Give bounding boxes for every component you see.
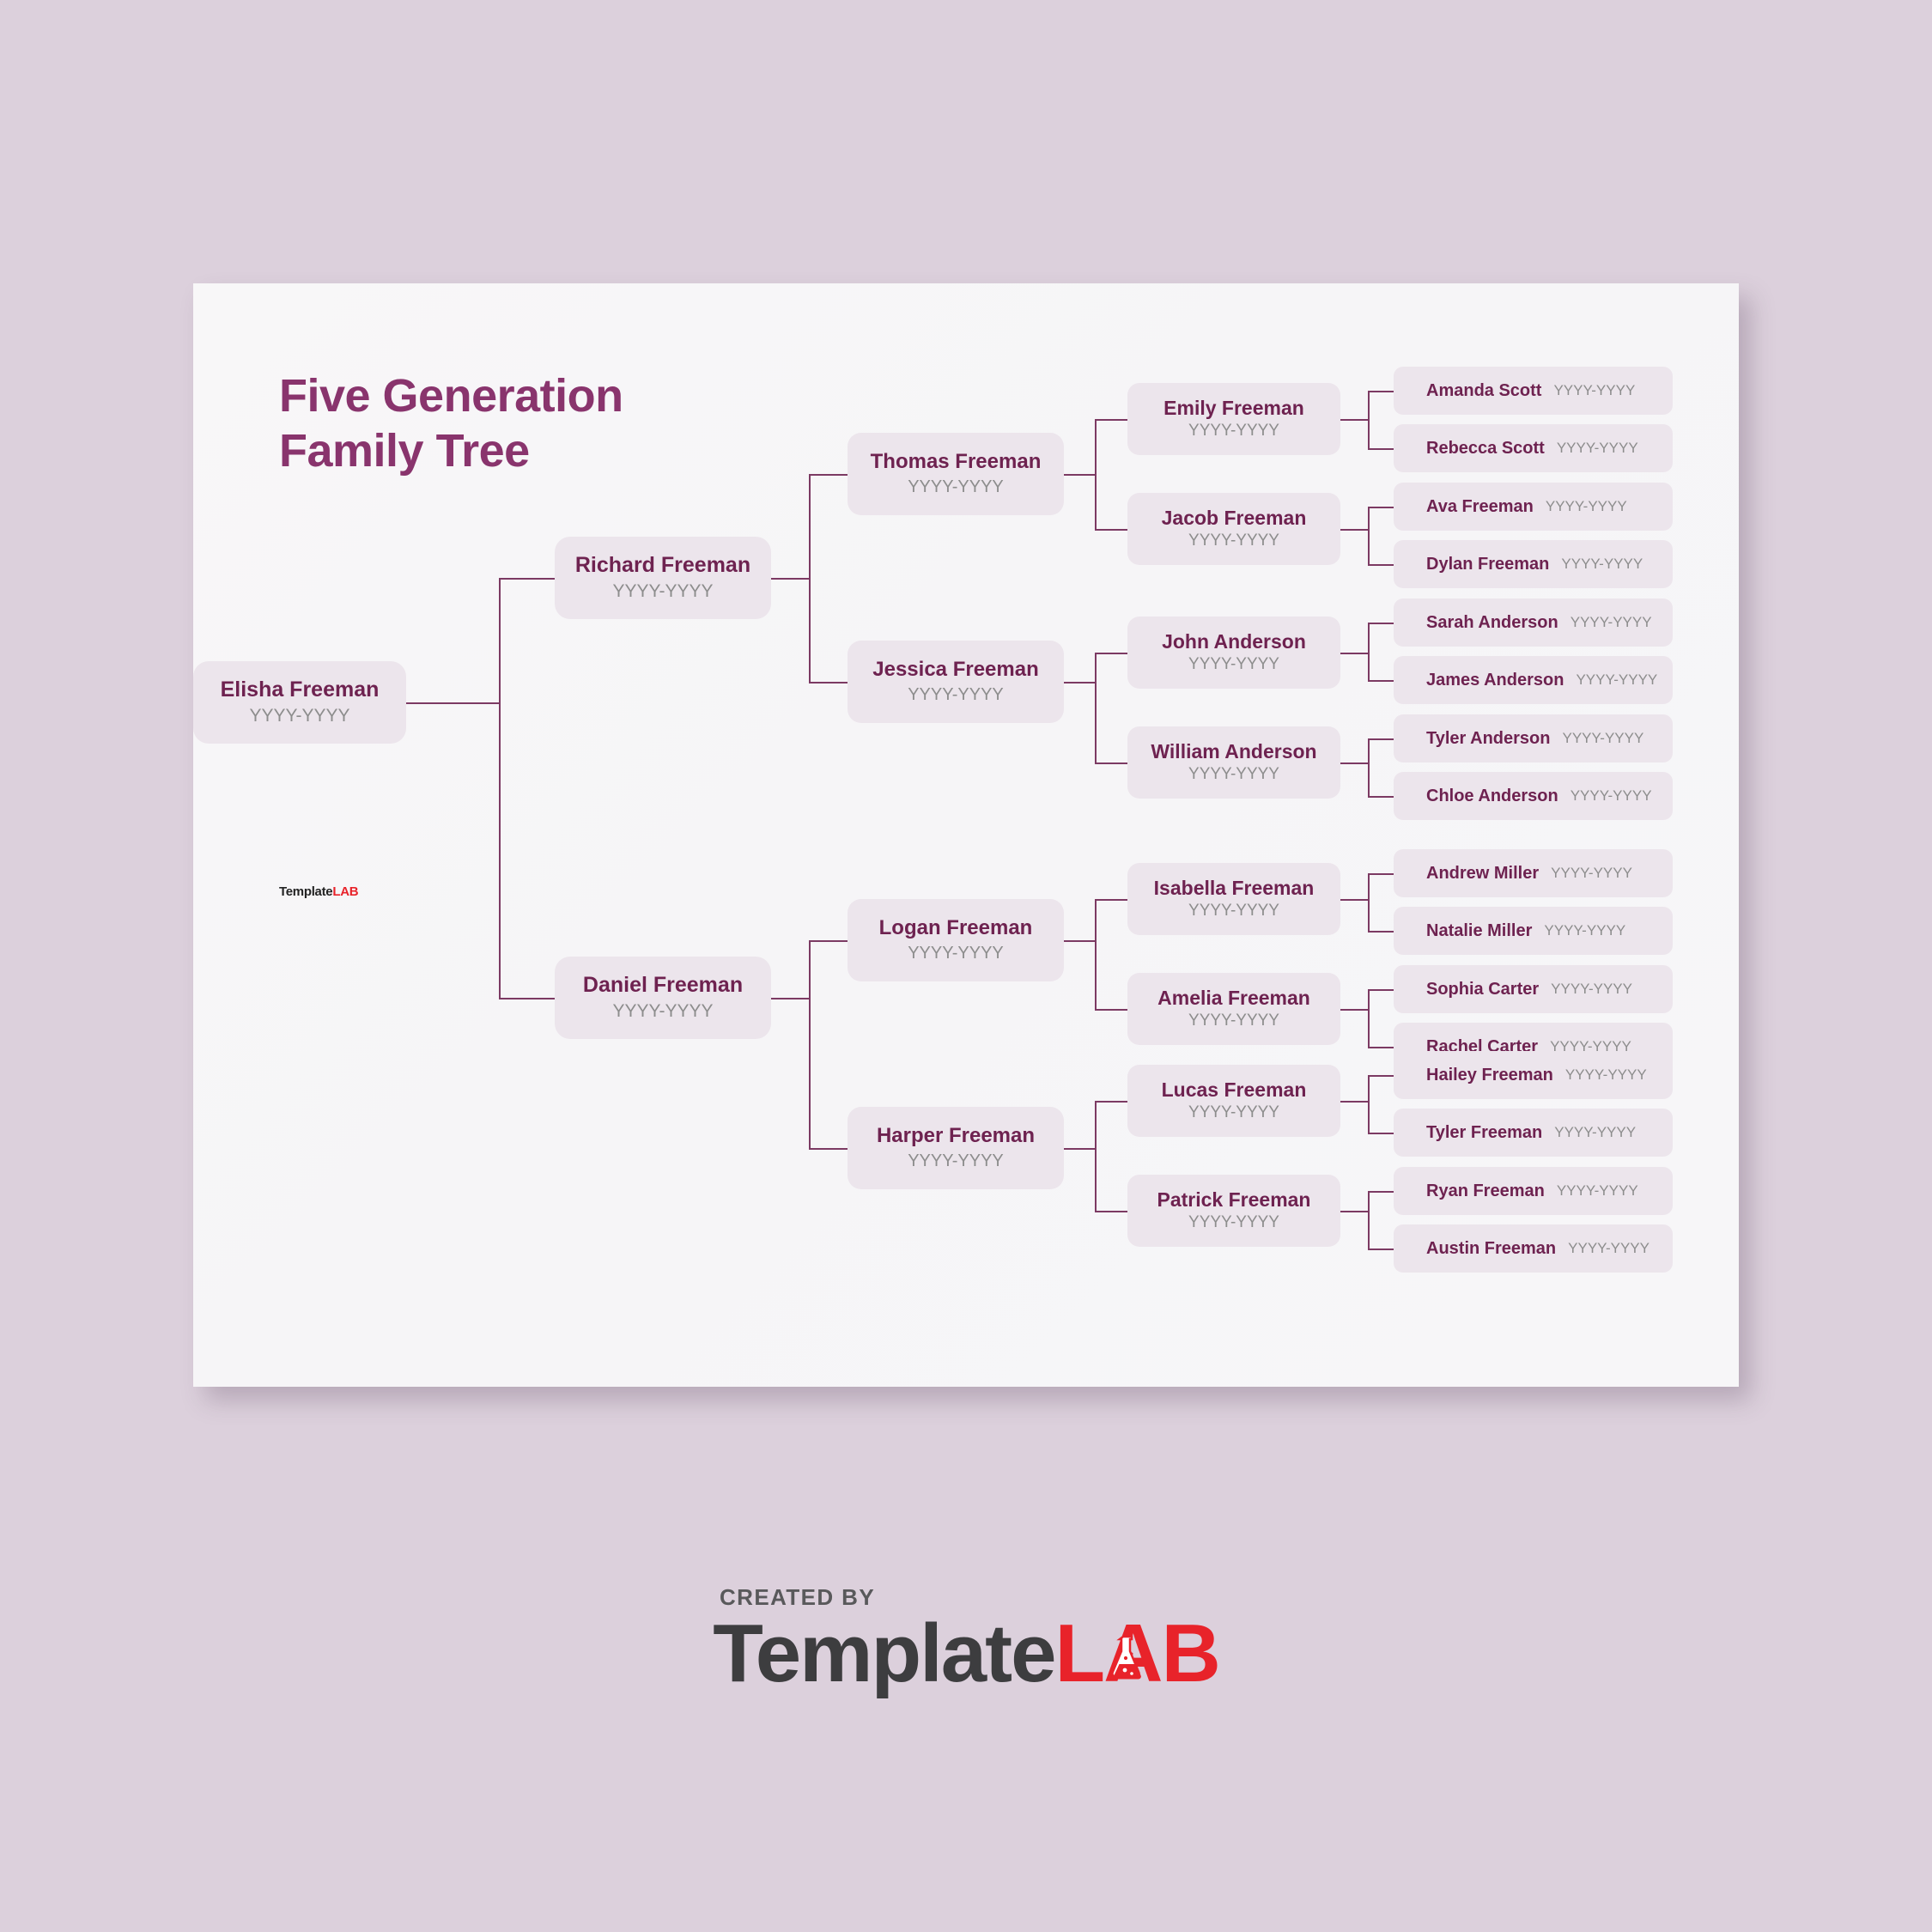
- connector-richard-spine: [809, 474, 811, 683]
- connector-to-ryan-freeman: [1368, 1191, 1394, 1193]
- node-years: YYYY-YYYY: [1565, 1066, 1647, 1084]
- tree-node-gen5-12[interactable]: Hailey Freeman YYYY-YYYY: [1394, 1051, 1673, 1099]
- connector-to-tyler-anderson: [1368, 738, 1394, 740]
- node-years: YYYY-YYYY: [249, 706, 349, 726]
- connector-jessica-spine: [1095, 653, 1097, 762]
- tree-node-gen3-2[interactable]: Logan Freeman YYYY-YYYY: [848, 899, 1064, 981]
- node-name: Thomas Freeman: [871, 451, 1042, 473]
- node-name: Amelia Freeman: [1157, 987, 1310, 1009]
- node-years: YYYY-YYYY: [1546, 498, 1627, 515]
- connector-to-harper: [809, 1148, 848, 1150]
- tree-node-gen4-6[interactable]: Lucas Freeman YYYY-YYYY: [1127, 1065, 1340, 1137]
- tree-node-gen5-7[interactable]: Chloe Anderson YYYY-YYYY: [1394, 772, 1673, 820]
- connector-to-william: [1095, 762, 1127, 764]
- tree-node-gen2-1[interactable]: Daniel Freeman YYYY-YYYY: [555, 957, 771, 1039]
- connector-to-rachel-carter: [1368, 1047, 1394, 1048]
- connector-to-thomas: [809, 474, 848, 476]
- tree-node-gen5-1[interactable]: Rebecca Scott YYYY-YYYY: [1394, 424, 1673, 472]
- connector-amelia-out: [1340, 1009, 1368, 1011]
- connector-john-spine: [1368, 623, 1370, 680]
- node-years: YYYY-YYYY: [1551, 981, 1632, 998]
- node-name: Emily Freeman: [1163, 398, 1304, 419]
- connector-to-sophia-carter: [1368, 989, 1394, 991]
- tree-node-gen4-5[interactable]: Amelia Freeman YYYY-YYYY: [1127, 973, 1340, 1045]
- node-years: YYYY-YYYY: [1188, 902, 1279, 920]
- node-name: Logan Freeman: [879, 917, 1033, 939]
- node-name: Tyler Anderson: [1426, 729, 1550, 748]
- connector-william-out: [1340, 762, 1368, 764]
- connector-isabella-spine: [1368, 873, 1370, 931]
- connector-to-amelia: [1095, 1009, 1127, 1011]
- connector-to-jacob: [1095, 529, 1127, 531]
- connector-amelia-spine: [1368, 989, 1370, 1047]
- connector-to-john: [1095, 653, 1127, 654]
- node-name: Richard Freeman: [575, 554, 750, 578]
- tree-node-gen5-10[interactable]: Sophia Carter YYYY-YYYY: [1394, 965, 1673, 1013]
- connector-to-lucas: [1095, 1101, 1127, 1103]
- node-name: Hailey Freeman: [1426, 1066, 1553, 1084]
- node-name: Natalie Miller: [1426, 921, 1532, 940]
- node-years: YYYY-YYYY: [612, 1001, 713, 1022]
- tree-node-gen5-8[interactable]: Andrew Miller YYYY-YYYY: [1394, 849, 1673, 897]
- connector-daniel-out: [771, 998, 809, 999]
- node-years: YYYY-YYYY: [1188, 1213, 1279, 1232]
- node-years: YYYY-YYYY: [1557, 440, 1638, 457]
- node-years: YYYY-YYYY: [908, 477, 1004, 497]
- connector-lucas-out: [1340, 1101, 1368, 1103]
- node-name: James Anderson: [1426, 671, 1564, 690]
- node-years: YYYY-YYYY: [1576, 671, 1657, 689]
- tree-node-gen4-3[interactable]: William Anderson YYYY-YYYY: [1127, 726, 1340, 799]
- logo-b-letter: B: [1161, 1613, 1218, 1695]
- connector-daniel-spine: [809, 940, 811, 1149]
- tree-node-gen5-5[interactable]: James Anderson YYYY-YYYY: [1394, 656, 1673, 704]
- node-name: Dylan Freeman: [1426, 555, 1549, 574]
- node-years: YYYY-YYYY: [1544, 922, 1625, 939]
- node-name: William Anderson: [1151, 741, 1316, 762]
- node-name: Daniel Freeman: [583, 974, 743, 998]
- connector-to-isabella: [1095, 899, 1127, 901]
- connector-to-dylan-freeman: [1368, 564, 1394, 566]
- connector-to-ava-freeman: [1368, 507, 1394, 508]
- connector-gen2-spine: [499, 578, 501, 999]
- logo-l-letter: L: [1055, 1613, 1104, 1695]
- connector-root-out: [406, 702, 499, 704]
- connector-to-amanda-scott: [1368, 391, 1394, 392]
- logo-template-text: Template: [713, 1613, 1054, 1695]
- connector-to-richard: [499, 578, 555, 580]
- connector-to-austin-freeman: [1368, 1249, 1394, 1250]
- connector-jacob-out: [1340, 529, 1368, 531]
- connector-thomas-out: [1064, 474, 1095, 476]
- templatelab-watermark-small: TemplateLAB: [279, 884, 358, 899]
- tree-node-gen4-4[interactable]: Isabella Freeman YYYY-YYYY: [1127, 863, 1340, 935]
- node-years: YYYY-YYYY: [1188, 1012, 1279, 1030]
- connector-to-patrick: [1095, 1211, 1127, 1212]
- connector-to-james-anderson: [1368, 680, 1394, 682]
- node-name: Austin Freeman: [1426, 1239, 1556, 1258]
- connector-to-emily: [1095, 419, 1127, 421]
- connector-patrick-spine: [1368, 1191, 1370, 1249]
- node-years: YYYY-YYYY: [1571, 787, 1652, 805]
- node-years: YYYY-YYYY: [908, 944, 1004, 963]
- logo-a-flask-wrap: A: [1103, 1613, 1161, 1695]
- node-years: YYYY-YYYY: [908, 1151, 1004, 1171]
- node-name: Ryan Freeman: [1426, 1182, 1545, 1200]
- tree-node-gen5-6[interactable]: Tyler Anderson YYYY-YYYY: [1394, 714, 1673, 762]
- watermark-template-text: Template: [279, 884, 332, 899]
- connector-thomas-spine: [1095, 419, 1097, 529]
- tree-node-gen5-3[interactable]: Dylan Freeman YYYY-YYYY: [1394, 540, 1673, 588]
- tree-node-gen4-7[interactable]: Patrick Freeman YYYY-YYYY: [1127, 1175, 1340, 1247]
- node-years: YYYY-YYYY: [1188, 422, 1279, 440]
- connector-to-hailey-freeman: [1368, 1075, 1394, 1077]
- node-years: YYYY-YYYY: [1188, 532, 1279, 550]
- connector-john-out: [1340, 653, 1368, 654]
- tree-node-gen5-9[interactable]: Natalie Miller YYYY-YYYY: [1394, 907, 1673, 955]
- page-title: Five Generation Family Tree: [279, 369, 623, 478]
- connector-logan-out: [1064, 940, 1095, 942]
- node-years: YYYY-YYYY: [1554, 1124, 1636, 1141]
- connector-to-andrew-miller: [1368, 873, 1394, 875]
- tree-node-gen4-2[interactable]: John Anderson YYYY-YYYY: [1127, 617, 1340, 689]
- tree-node-gen5-15[interactable]: Austin Freeman YYYY-YYYY: [1394, 1224, 1673, 1273]
- connector-to-tyler-freeman: [1368, 1133, 1394, 1134]
- connector-to-chloe-anderson: [1368, 796, 1394, 798]
- connector-harper-out: [1064, 1148, 1095, 1150]
- tree-node-gen1-0[interactable]: Elisha Freeman YYYY-YYYY: [193, 661, 406, 744]
- node-name: Sophia Carter: [1426, 980, 1539, 999]
- tree-node-gen2-0[interactable]: Richard Freeman YYYY-YYYY: [555, 537, 771, 619]
- node-name: Chloe Anderson: [1426, 787, 1558, 805]
- node-name: Amanda Scott: [1426, 381, 1541, 400]
- connector-richard-out: [771, 578, 809, 580]
- tree-node-gen4-1[interactable]: Jacob Freeman YYYY-YYYY: [1127, 493, 1340, 565]
- flask-icon: [1109, 1635, 1146, 1680]
- node-years: YYYY-YYYY: [1568, 1240, 1649, 1257]
- tree-node-gen3-1[interactable]: Jessica Freeman YYYY-YYYY: [848, 641, 1064, 723]
- connector-isabella-out: [1340, 899, 1368, 901]
- connector-to-jessica: [809, 682, 848, 683]
- connector-patrick-out: [1340, 1211, 1368, 1212]
- templatelab-logo: TemplateLAB: [713, 1613, 1219, 1695]
- node-name: Lucas Freeman: [1162, 1079, 1307, 1101]
- connector-to-daniel: [499, 998, 555, 999]
- tree-node-gen4-0[interactable]: Emily Freeman YYYY-YYYY: [1127, 383, 1340, 455]
- node-years: YYYY-YYYY: [1553, 382, 1635, 399]
- node-name: Jessica Freeman: [872, 659, 1038, 681]
- node-years: YYYY-YYYY: [1562, 730, 1643, 747]
- tree-node-gen5-4[interactable]: Sarah Anderson YYYY-YYYY: [1394, 598, 1673, 647]
- node-years: YYYY-YYYY: [1188, 655, 1279, 674]
- connector-logan-spine: [1095, 899, 1097, 1009]
- connector-emily-out: [1340, 419, 1368, 421]
- connector-to-logan: [809, 940, 848, 942]
- watermark-lab-text: LAB: [332, 884, 358, 899]
- node-name: Ava Freeman: [1426, 497, 1534, 516]
- node-years: YYYY-YYYY: [612, 581, 713, 602]
- tree-node-gen5-0[interactable]: Amanda Scott YYYY-YYYY: [1394, 367, 1673, 415]
- family-tree-paper: Five Generation Family Tree TemplateLAB: [193, 283, 1739, 1387]
- node-name: Andrew Miller: [1426, 864, 1539, 883]
- node-years: YYYY-YYYY: [1557, 1182, 1638, 1200]
- tree-node-gen5-14[interactable]: Ryan Freeman YYYY-YYYY: [1394, 1167, 1673, 1215]
- tree-node-gen3-3[interactable]: Harper Freeman YYYY-YYYY: [848, 1107, 1064, 1189]
- node-name: Harper Freeman: [877, 1125, 1035, 1147]
- node-name: Tyler Freeman: [1426, 1123, 1542, 1142]
- connector-emily-spine: [1368, 391, 1370, 448]
- connector-harper-spine: [1095, 1101, 1097, 1211]
- connector-to-rebecca-scott: [1368, 448, 1394, 450]
- connector-lucas-spine: [1368, 1075, 1370, 1133]
- node-name: Elisha Freeman: [221, 678, 380, 702]
- node-years: YYYY-YYYY: [1551, 865, 1632, 882]
- node-name: Isabella Freeman: [1154, 878, 1315, 899]
- node-name: Sarah Anderson: [1426, 613, 1558, 632]
- connector-to-natalie-miller: [1368, 931, 1394, 933]
- node-years: YYYY-YYYY: [1188, 765, 1279, 784]
- connector-jessica-out: [1064, 682, 1095, 683]
- node-name: John Anderson: [1162, 631, 1306, 653]
- connector-to-sarah-anderson: [1368, 623, 1394, 624]
- templatelab-brand: CREATED BY TemplateLAB: [0, 1584, 1932, 1695]
- tree-node-gen5-13[interactable]: Tyler Freeman YYYY-YYYY: [1394, 1109, 1673, 1157]
- connector-william-spine: [1368, 738, 1370, 796]
- tree-node-gen5-2[interactable]: Ava Freeman YYYY-YYYY: [1394, 483, 1673, 531]
- node-years: YYYY-YYYY: [1561, 556, 1643, 573]
- node-name: Patrick Freeman: [1157, 1189, 1311, 1211]
- node-name: Jacob Freeman: [1162, 507, 1307, 529]
- node-years: YYYY-YYYY: [1188, 1103, 1279, 1122]
- node-name: Rebecca Scott: [1426, 439, 1545, 458]
- node-years: YYYY-YYYY: [1571, 614, 1652, 631]
- connector-jacob-spine: [1368, 507, 1370, 564]
- tree-node-gen3-0[interactable]: Thomas Freeman YYYY-YYYY: [848, 433, 1064, 515]
- node-years: YYYY-YYYY: [908, 685, 1004, 705]
